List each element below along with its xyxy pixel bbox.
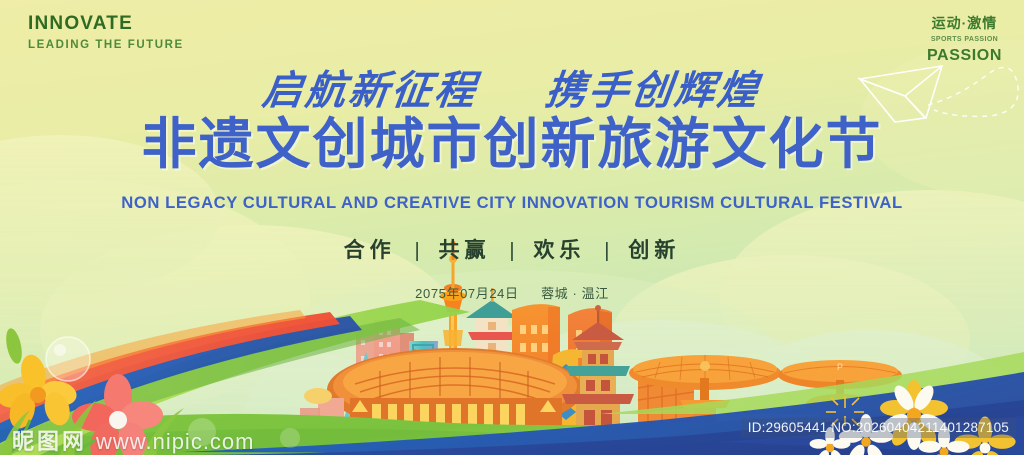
watermark-site: 昵图网www.nipic.com <box>12 424 255 455</box>
slogan-item-2: 欢乐 <box>533 239 585 262</box>
event-dateline: 2075年07月24日 蓉城 · 温江 <box>0 283 1024 302</box>
watermark-id: ID:29605441 NO:20260404211401287105 <box>741 418 1016 438</box>
logo-name: INNOVATE <box>28 14 184 33</box>
watermark-site-cn: 昵图网 <box>12 429 87 454</box>
brand-logo: INNOVATE LEADING THE FUTURE <box>28 14 184 52</box>
slogan-divider-1: | <box>509 240 514 262</box>
slogan-item-3: 创新 <box>628 239 680 262</box>
logo-tagline: LEADING THE FUTURE <box>28 40 184 52</box>
english-subtitle: NON LEGACY CULTURAL AND CREATIVE CITY IN… <box>0 194 1024 213</box>
festival-poster: P <box>0 0 1024 455</box>
top-right-cn: 运动·激情 <box>927 16 1002 30</box>
calligraphy-left: 启航新征程 <box>260 67 481 114</box>
slogan-divider-2: | <box>604 240 609 262</box>
calligraphy-right: 携手创辉煌 <box>543 67 764 114</box>
slogan-divider-0: | <box>415 240 420 262</box>
calligraphy-line: 启航新征程 携手创辉煌 <box>0 58 1024 116</box>
slogan-item-0: 合作 <box>344 239 396 262</box>
page-title: 非遗文创城市创新旅游文化节 <box>0 117 1024 172</box>
watermark-site-url: www.nipic.com <box>96 429 254 454</box>
slogan-row: 合作 | 共赢 | 欢乐 | 创新 <box>0 234 1024 264</box>
top-right-slogan: 运动·激情 SPORTS PASSION PASSION <box>927 16 1002 64</box>
event-date: 2075年07月24日 <box>415 286 518 301</box>
slogan-item-1: 共赢 <box>439 239 491 262</box>
top-right-en-small: SPORTS PASSION <box>927 36 1002 43</box>
event-location: 蓉城 · 温江 <box>541 286 609 301</box>
